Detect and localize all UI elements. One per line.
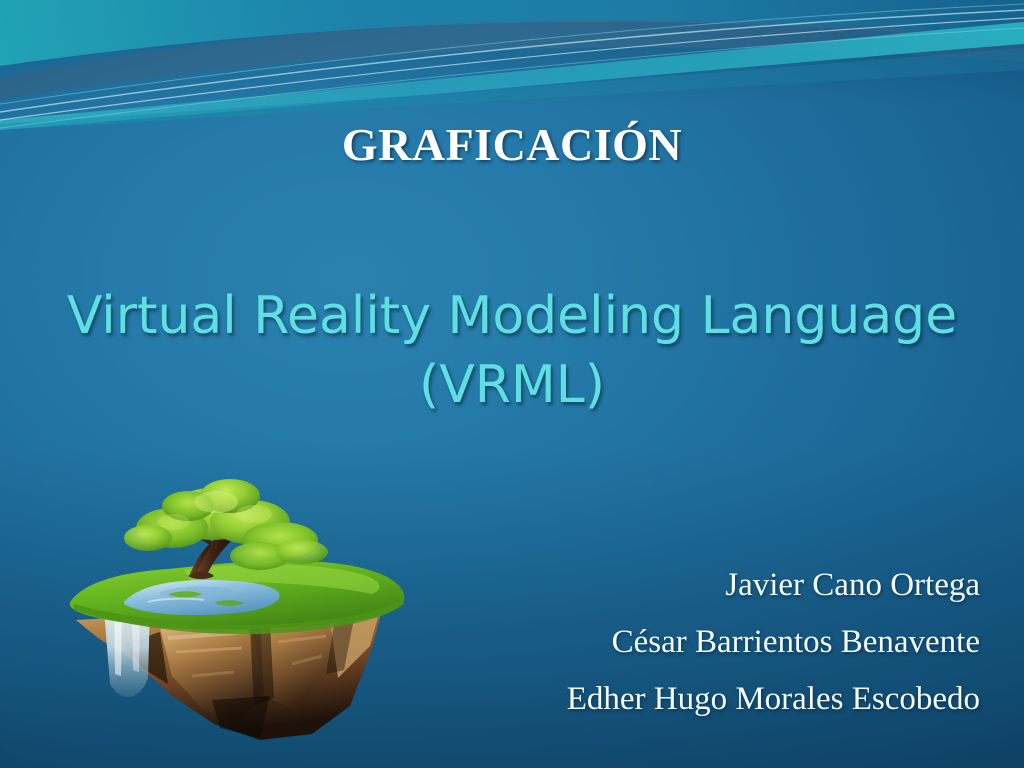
presentation-slide: GRAFICACIÓN Virtual Reality Modeling Lan… <box>0 0 1024 768</box>
author-list: Javier Cano Ortega César Barrientos Bena… <box>380 557 980 727</box>
top-swoosh-decoration <box>0 0 1024 130</box>
headline-line-1: Virtual Reality Modeling Language <box>18 282 1006 351</box>
slide-title: GRAFICACIÓN <box>0 118 1024 171</box>
author-name: Edher Hugo Morales Escobedo <box>380 671 980 728</box>
floating-island-image <box>64 452 414 744</box>
headline-line-2: (VRML) <box>18 351 1006 420</box>
author-name: César Barrientos Benavente <box>380 614 980 671</box>
slide-headline: Virtual Reality Modeling Language (VRML) <box>18 282 1006 420</box>
author-name: Javier Cano Ortega <box>380 557 980 614</box>
